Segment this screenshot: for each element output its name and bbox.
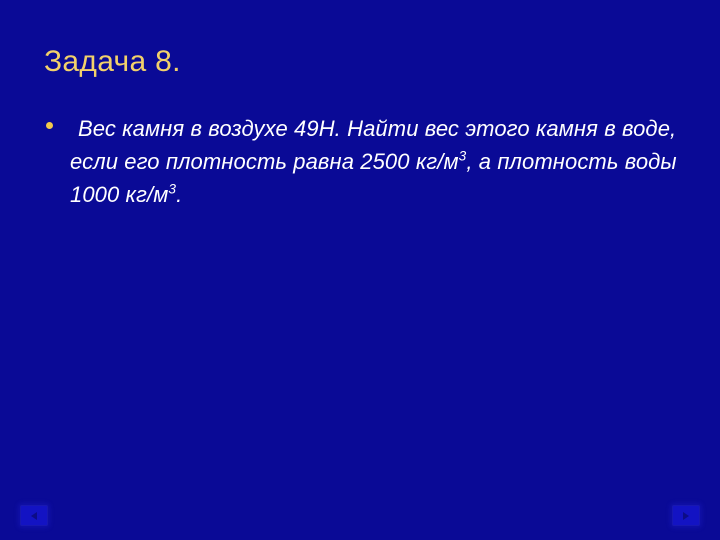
presentation-slide: Задача 8. Вес камня в воздухе 49Н. Найти… xyxy=(0,0,720,540)
bullet-text: Вес камня в воздухе 49Н. Найти вес этого… xyxy=(70,112,680,211)
next-slide-button[interactable] xyxy=(672,505,700,526)
list-item: Вес камня в воздухе 49Н. Найти вес этого… xyxy=(40,112,680,211)
slide-body: Вес камня в воздухе 49Н. Найти вес этого… xyxy=(40,112,680,211)
triangle-right-icon xyxy=(683,512,689,520)
previous-slide-button[interactable] xyxy=(20,505,48,526)
slide-title: Задача 8. xyxy=(44,44,684,80)
triangle-left-icon xyxy=(31,512,37,520)
bullet-dot-icon xyxy=(46,122,53,129)
